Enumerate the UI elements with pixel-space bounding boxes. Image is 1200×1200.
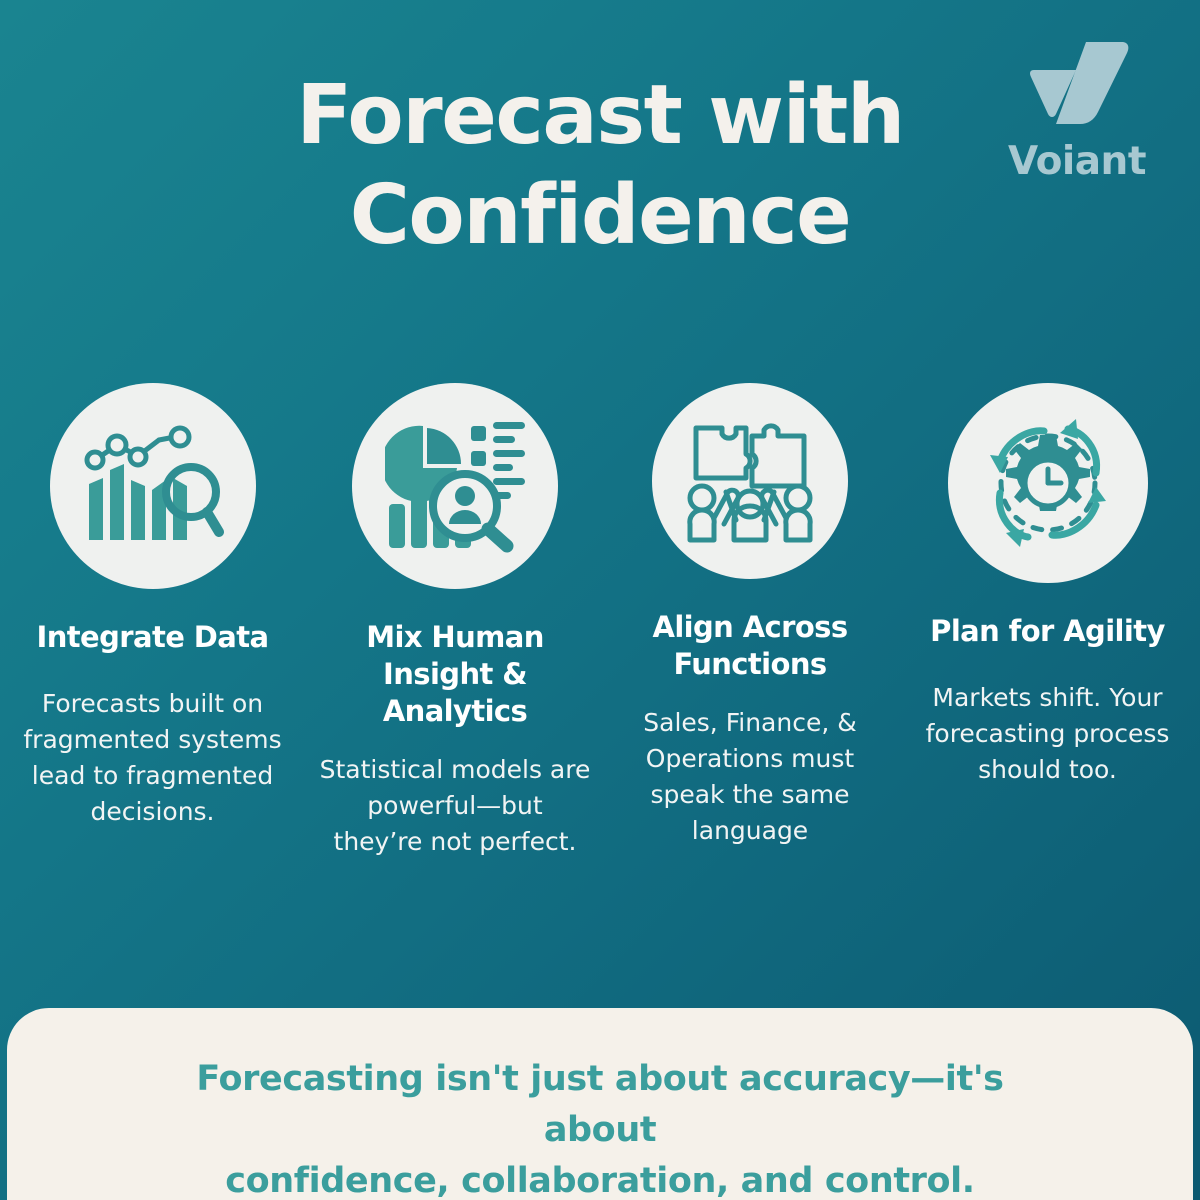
title-line-2: Confidence <box>160 166 1040 266</box>
banner-line-2: confidence, collaboration, and control. <box>160 1156 1040 1200</box>
banner-line-1: Forecasting isn't just about accuracy—it… <box>160 1054 1040 1156</box>
icon-circle-2 <box>352 383 558 589</box>
pillar-body-3: Sales, Finance, & Operations must speak … <box>605 705 895 849</box>
pillar-card-mix-human-insight: Mix Human Insight & Analytics Statistica… <box>305 383 605 860</box>
title-line-1: Forecast with <box>160 66 1040 166</box>
page-title: Forecast with Confidence <box>0 66 1200 266</box>
pillar-heading-3: Align Across Functions <box>605 609 895 683</box>
pillar-card-list: Integrate Data Forecasts built on fragme… <box>0 383 1200 860</box>
bottom-banner: Forecasting isn't just about accuracy—it… <box>7 1008 1193 1200</box>
banner-text: Forecasting isn't just about accuracy—it… <box>160 1054 1040 1200</box>
pillar-heading-2: Mix Human Insight & Analytics <box>305 619 605 730</box>
icon-circle-4 <box>948 383 1148 583</box>
pillar-heading-4: Plan for Agility <box>926 613 1169 650</box>
pillar-heading-1: Integrate Data <box>33 619 273 656</box>
pillar-card-plan-for-agility: Plan for Agility Markets shift. Your for… <box>895 383 1200 788</box>
pillar-body-2: Statistical models are powerful—but they… <box>319 752 591 860</box>
gear-clock-cycle-arrows-icon <box>978 413 1118 553</box>
bar-chart-line-magnifier-icon <box>79 420 227 552</box>
infographic-poster: Voiant Forecast with Confidence <box>0 0 1200 1200</box>
pillar-body-1: Forecasts built on fragmented systems le… <box>14 686 292 830</box>
team-puzzle-collaboration-icon <box>684 416 816 546</box>
icon-circle-1 <box>50 383 256 589</box>
pillar-card-align-across-functions: Align Across Functions Sales, Finance, &… <box>605 383 895 849</box>
pillar-body-4: Markets shift. Your forecasting process … <box>913 680 1183 788</box>
pillar-card-integrate-data: Integrate Data Forecasts built on fragme… <box>0 383 305 830</box>
icon-circle-3 <box>652 383 848 579</box>
pie-chart-analytics-person-magnifier-icon <box>385 418 525 554</box>
